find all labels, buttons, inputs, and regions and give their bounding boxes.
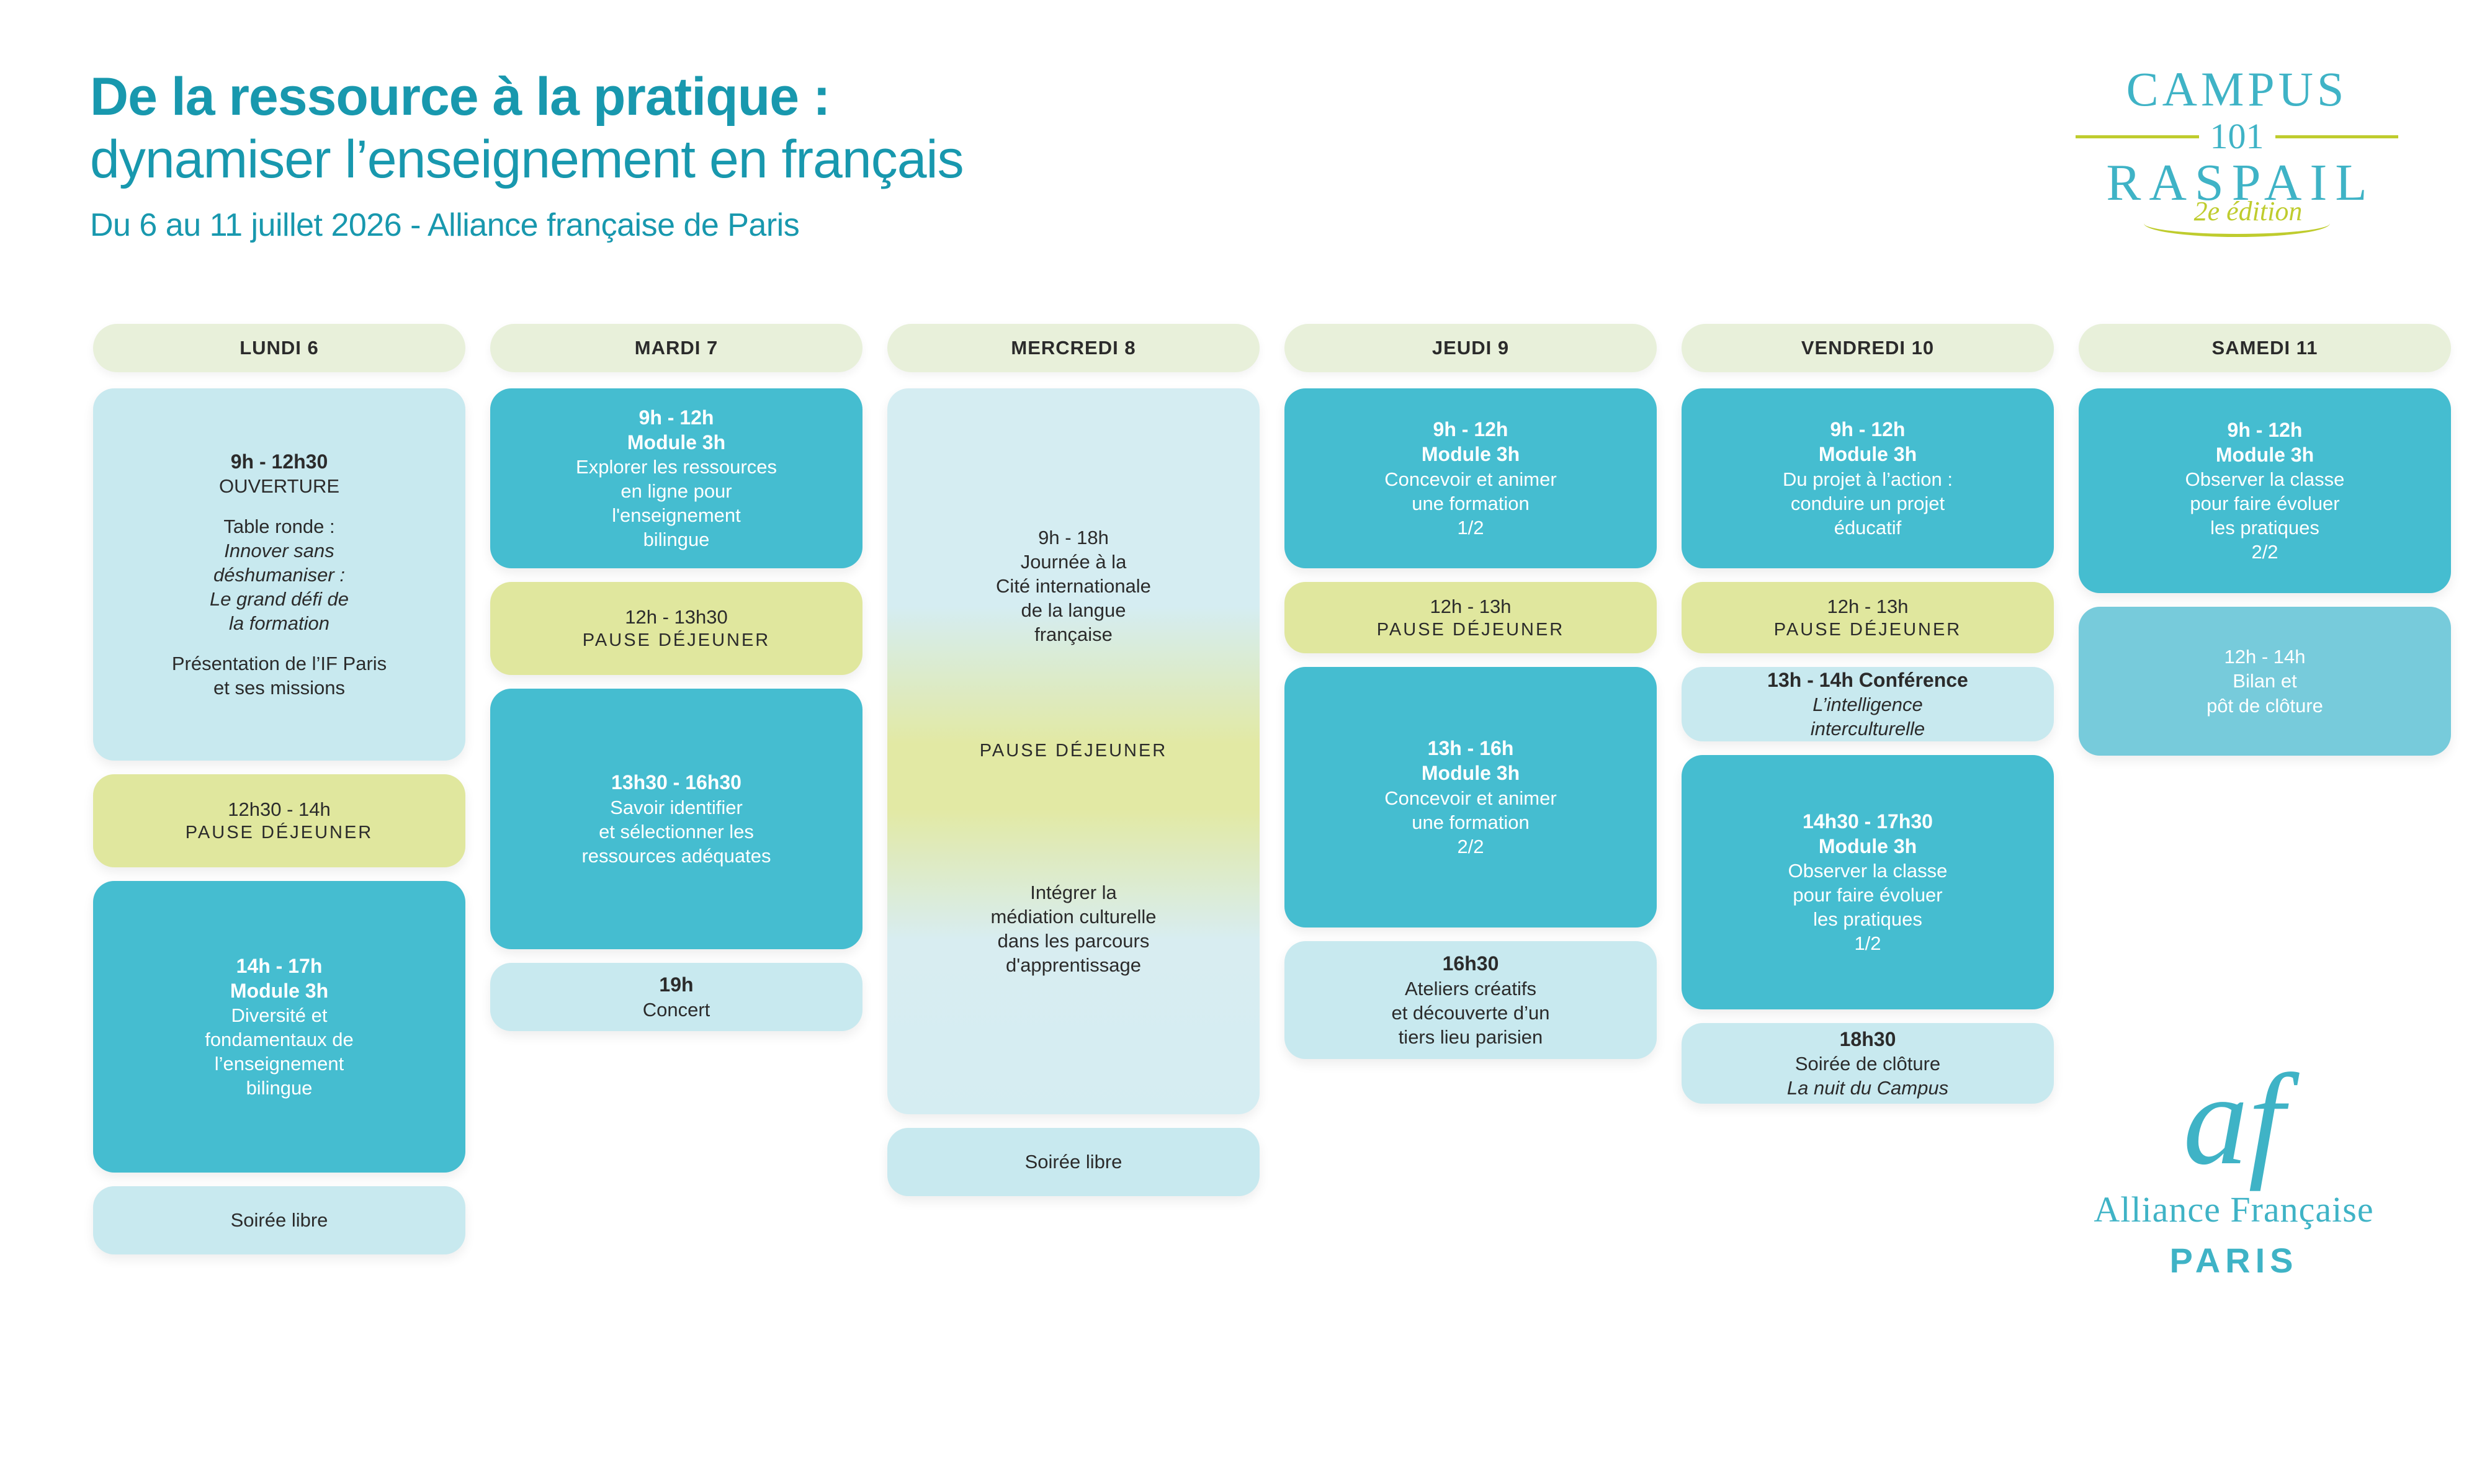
card-text-line: Module 3h (1819, 834, 1917, 859)
card-text-line: 13h - 16h (1428, 736, 1514, 761)
card-text-line: PAUSE DÉJEUNER (186, 821, 374, 844)
card-text-line: Soirée de clôture (1795, 1052, 1940, 1076)
card-text-line: Module 3h (2216, 442, 2314, 467)
card-text-line: conduire un projet (1791, 491, 1945, 516)
poster-header: De la ressource à la pratique : dynamise… (0, 0, 2482, 310)
day-header-mercredi-8[interactable]: MERCREDI 8 (887, 324, 1260, 372)
schedule-card[interactable]: 9h - 12hModule 3hObserver la classepour … (2079, 388, 2451, 593)
card-text-line: Module 3h (230, 978, 328, 1003)
card-text-line: les pratiques (2210, 516, 2319, 540)
rule-right-icon (2275, 135, 2399, 138)
page-title-line2: dynamiser l’enseignement en français (90, 130, 964, 189)
card-text-line: Module 3h (1422, 442, 1520, 467)
card-text-line: Innover sans (224, 539, 334, 563)
card-text-line: 12h - 13h30 (625, 605, 727, 629)
card-text-line: PAUSE DÉJEUNER (1774, 619, 1962, 641)
day-header-jeudi-9[interactable]: JEUDI 9 (1284, 324, 1657, 372)
card-text-line: tiers lieu parisien (1399, 1025, 1543, 1049)
card-text-line: 13h - 14h Conférence (1767, 668, 1968, 692)
day-header-mardi-7[interactable]: MARDI 7 (490, 324, 862, 372)
card-text-line: interculturelle (1811, 717, 1925, 741)
title-block: De la ressource à la pratique : dynamise… (90, 68, 964, 244)
day-column: VENDREDI 109h - 12hModule 3hDu projet à … (1682, 324, 2054, 1268)
card-text-line: 12h - 14h (2224, 645, 2306, 669)
schedule-card[interactable]: 12h30 - 14hPAUSE DÉJEUNER (93, 774, 465, 867)
card-text-line: 12h - 13h (1827, 594, 1909, 619)
card-text-line: Module 3h (1422, 761, 1520, 785)
alliance-francaise-logo: af Alliance Française PARIS (2060, 1055, 2408, 1281)
campus-raspail-logo: CAMPUS 101 RASPAIL 2e édition (2076, 65, 2398, 237)
day-column: MARDI 79h - 12hModule 3hExplorer les res… (490, 324, 862, 1268)
day-header-lundi-6[interactable]: LUNDI 6 (93, 324, 465, 372)
card-text-line: PAUSE DÉJEUNER (583, 629, 771, 652)
schedule-poster: De la ressource à la pratique : dynamise… (0, 0, 2482, 1484)
af-logo-name: Alliance Française (2060, 1189, 2408, 1230)
card-text-line: Cité internationale (996, 574, 1151, 598)
card-text-line: d'apprentissage (1006, 953, 1141, 977)
card-text-line: Diversité et (231, 1003, 327, 1027)
schedule-card[interactable]: Soirée libre (93, 1186, 465, 1254)
schedule-card[interactable]: 14h - 17hModule 3hDiversité etfondamenta… (93, 881, 465, 1173)
schedule-card[interactable]: 9h - 12hModule 3hExplorer les ressources… (490, 388, 862, 568)
card-text-line: 9h - 12h30 (231, 449, 328, 474)
day-column: MERCREDI 89h - 18hJournée à laCité inter… (887, 324, 1260, 1268)
card-text-line: 19h (659, 972, 693, 997)
page-subtitle: Du 6 au 11 juillet 2026 - Alliance franç… (90, 207, 964, 244)
card-text-line: 1/2 (1457, 516, 1484, 540)
card-text-line: les pratiques (1813, 907, 1922, 931)
schedule-card[interactable]: 18h30Soirée de clôtureLa nuit du Campus (1682, 1023, 2054, 1104)
card-text-line: Table ronde : (223, 514, 334, 539)
schedule-card[interactable]: 9h - 12hModule 3hDu projet à l’action :c… (1682, 388, 2054, 568)
card-text-line: 9h - 12h (2228, 418, 2303, 442)
card-text-line: L’intelligence (1812, 692, 1923, 717)
card-text-line: 9h - 12h (1830, 417, 1906, 442)
card-text-line: 13h30 - 16h30 (611, 770, 741, 795)
card-text-line: Présentation de l’IF Paris (172, 651, 387, 676)
card-text-line: dans les parcours (998, 929, 1150, 953)
schedule-card[interactable]: Soirée libre (887, 1128, 1260, 1196)
card-text-line: 16h30 (1443, 951, 1499, 976)
card-text-line: PAUSE DÉJEUNER (980, 740, 1168, 762)
schedule-card[interactable]: 12h - 13hPAUSE DÉJEUNER (1284, 582, 1657, 653)
schedule-card[interactable]: 16h30Ateliers créatifset découverte d’un… (1284, 941, 1657, 1059)
campus-logo-number-row: 101 (2076, 118, 2398, 154)
card-text-line: Concevoir et animer (1384, 467, 1556, 491)
schedule-card[interactable]: 14h30 - 17h30Module 3hObserver la classe… (1682, 755, 2054, 1009)
card-text-line: Concevoir et animer (1384, 786, 1556, 810)
page-title-line1: De la ressource à la pratique : (90, 68, 964, 126)
schedule-card[interactable]: 13h30 - 16h30Savoir identifieret sélecti… (490, 689, 862, 949)
card-text-line: 9h - 18h (1038, 525, 1109, 550)
card-text-line: Concert (643, 998, 710, 1022)
card-text-line: une formation (1412, 810, 1530, 834)
schedule-card[interactable]: 13h - 16hModule 3hConcevoir et animerune… (1284, 667, 1657, 927)
card-text-line: Journée à la (1021, 550, 1127, 574)
card-text-line: française (1034, 622, 1113, 646)
card-text-line: l’enseignement (215, 1052, 344, 1076)
card-text-line: 2/2 (1457, 834, 1484, 859)
schedule-card[interactable]: 12h - 14hBilan etpôt de clôture (2079, 607, 2451, 756)
card-text-line: pôt de clôture (2206, 694, 2323, 718)
card-text-line: Explorer les ressources (576, 455, 777, 479)
card-text-line: 9h - 12h (1433, 417, 1508, 442)
card-text-line: de la langue (1021, 598, 1126, 622)
schedule-card[interactable]: 12h - 13h30PAUSE DÉJEUNER (490, 582, 862, 675)
campus-logo-edition: 2e édition (2087, 195, 2409, 227)
campus-logo-number: 101 (2199, 118, 2275, 154)
card-text-line: 14h - 17h (236, 954, 323, 978)
campus-logo-word: CAMPUS (2076, 65, 2398, 114)
af-logo-city: PARIS (2060, 1240, 2408, 1281)
week-schedule-grid: LUNDI 69h - 12h30OUVERTURETable ronde :I… (93, 324, 2389, 1268)
card-text-line: Savoir identifier (610, 795, 743, 820)
day-column: JEUDI 99h - 12hModule 3hConcevoir et ani… (1284, 324, 1657, 1268)
card-text-line: en ligne pour (620, 479, 732, 503)
card-text-line: fondamentaux de (205, 1027, 354, 1052)
card-text-line: la formation (229, 611, 329, 635)
card-text-line: médiation culturelle (990, 905, 1156, 929)
card-text-line: 9h - 12h (639, 405, 714, 430)
schedule-card[interactable]: 9h - 18hJournée à laCité internationaled… (887, 388, 1260, 1114)
card-text-line: Module 3h (1819, 442, 1917, 467)
card-text-line: pour faire évoluer (2190, 491, 2339, 516)
card-text-line: éducatif (1834, 516, 1902, 540)
card-text-line: et sélectionner les (599, 820, 754, 844)
card-text-line: bilingue (246, 1076, 313, 1100)
card-text-line: Ateliers créatifs (1405, 977, 1536, 1001)
card-text-line: 1/2 (1854, 931, 1881, 955)
day-column: LUNDI 69h - 12h30OUVERTURETable ronde :I… (93, 324, 465, 1268)
card-text-line: ressources adéquates (581, 844, 771, 868)
card-text-line: Du projet à l’action : (1783, 467, 1953, 491)
af-monogram-icon: af (2060, 1055, 2408, 1185)
card-text-line: Observer la classe (1788, 859, 1948, 883)
day-header-samedi-11[interactable]: SAMEDI 11 (2079, 324, 2451, 372)
schedule-card[interactable]: 9h - 12h30OUVERTURETable ronde :Innover … (93, 388, 465, 761)
day-header-vendredi-10[interactable]: VENDREDI 10 (1682, 324, 2054, 372)
card-text-line: OUVERTURE (219, 474, 339, 498)
card-text-line: 18h30 (1840, 1027, 1896, 1052)
card-text-line: Intégrer la (1030, 880, 1117, 905)
card-text-line: pour faire évoluer (1793, 883, 1942, 907)
card-text-line: une formation (1412, 491, 1530, 516)
schedule-card[interactable]: 19hConcert (490, 963, 862, 1031)
card-text-line: déshumaniser : (213, 563, 345, 587)
schedule-card[interactable]: 9h - 12hModule 3hConcevoir et animerune … (1284, 388, 1657, 568)
card-text-line: Module 3h (627, 430, 725, 455)
card-text-line: Soirée libre (231, 1208, 328, 1232)
card-text-line: Observer la classe (2185, 467, 2345, 491)
rule-left-icon (2076, 135, 2199, 138)
card-text-line: bilingue (643, 527, 710, 552)
card-text-line: PAUSE DÉJEUNER (1377, 619, 1565, 641)
card-text-line: Soirée libre (1025, 1150, 1122, 1174)
card-text-line: 12h - 13h (1430, 594, 1512, 619)
card-text-line: l'enseignement (612, 503, 741, 527)
card-text-line: Bilan et (2233, 669, 2296, 693)
card-text-line: 14h30 - 17h30 (1803, 809, 1933, 834)
schedule-card[interactable]: 13h - 14h ConférenceL’intelligenceinterc… (1682, 667, 2054, 741)
schedule-card[interactable]: 12h - 13hPAUSE DÉJEUNER (1682, 582, 2054, 653)
card-text-line: et ses missions (213, 676, 345, 700)
card-text-line: La nuit du Campus (1787, 1076, 1948, 1100)
card-text-line: Le grand défi de (210, 587, 349, 611)
card-text-line: et découverte d’un (1391, 1001, 1549, 1025)
card-text-line: 12h30 - 14h (228, 797, 330, 821)
card-text-line: 2/2 (2251, 540, 2278, 564)
